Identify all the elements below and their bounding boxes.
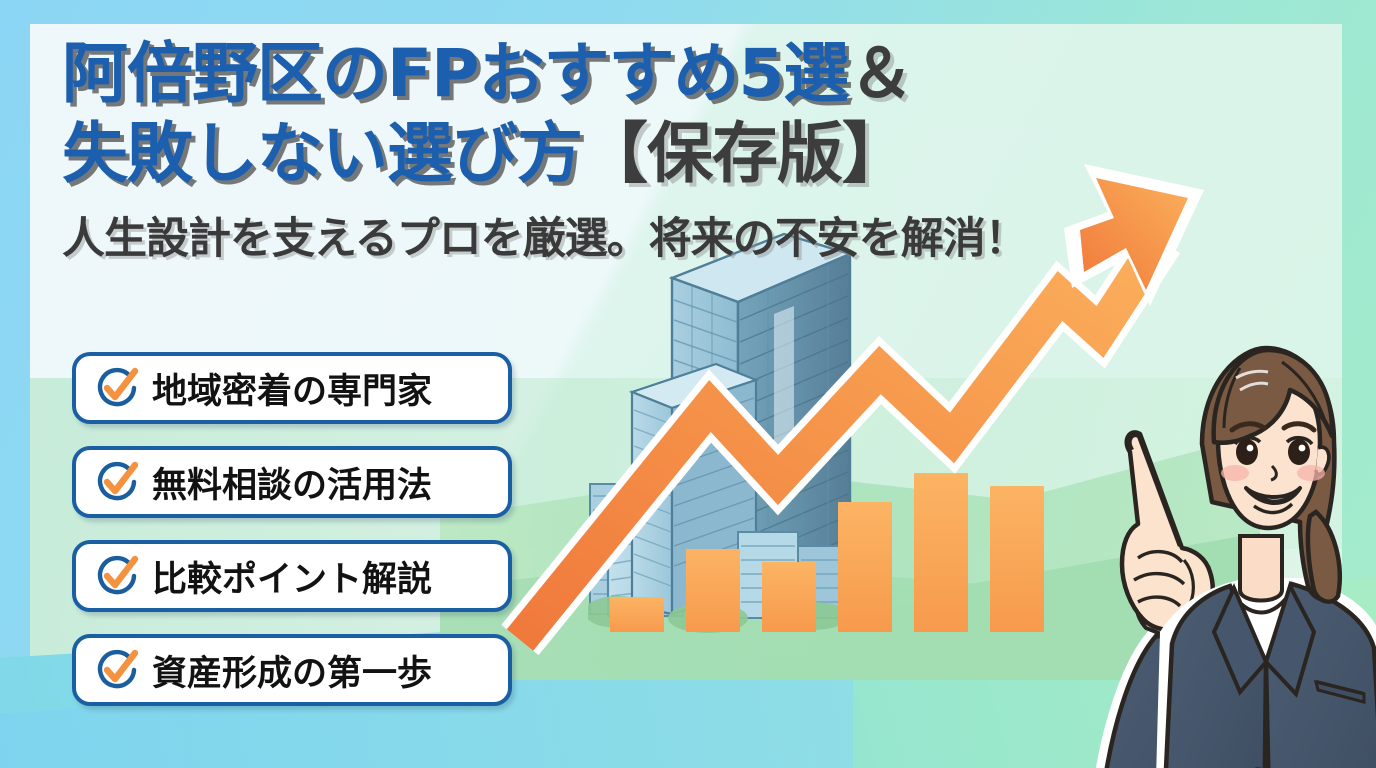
title-line-1-ampersand: ＆ <box>848 35 913 112</box>
title-line-1-main: 阿倍野区のFPおすすめ5選 <box>62 35 848 112</box>
bar-2 <box>686 549 740 632</box>
checklist-item-4[interactable]: 資産形成の第一歩 <box>72 634 512 706</box>
title-line-1: 阿倍野区のFPおすすめ5選＆ <box>62 34 1027 114</box>
bar-4 <box>838 502 892 632</box>
subtitle: 人生設計を支えるプロを厳選。将来の不安を解消！ <box>62 204 1027 266</box>
businesswoman-illustration <box>1034 332 1376 768</box>
checklist-item-1-label: 地域密着の専門家 <box>152 363 432 414</box>
checklist-item-3[interactable]: 比較ポイント解説 <box>72 540 512 612</box>
bar-chart <box>610 473 1044 632</box>
check-circle-icon <box>94 459 140 505</box>
title-line-2-tag: 【保存版】 <box>582 115 907 192</box>
checklist-item-1[interactable]: 地域密着の専門家 <box>72 352 512 424</box>
checklist-item-2-label: 無料相談の活用法 <box>152 457 432 508</box>
check-circle-icon <box>94 365 140 411</box>
title-line-2-main: 失敗しない選び方 <box>62 115 582 192</box>
check-circle-icon <box>94 553 140 599</box>
bar-3 <box>762 562 816 632</box>
checklist-item-4-label: 資産形成の第一歩 <box>152 645 432 696</box>
checklist: 地域密着の専門家 無料相談の活用法 比較ポイント解説 <box>72 352 512 728</box>
headline-block: 阿倍野区のFPおすすめ5選＆ 失敗しない選び方【保存版】 人生設計を支えるプロを… <box>62 34 1027 266</box>
banner-root: 阿倍野区のFPおすすめ5選＆ 失敗しない選び方【保存版】 人生設計を支えるプロを… <box>0 0 1376 768</box>
checklist-item-2[interactable]: 無料相談の活用法 <box>72 446 512 518</box>
bar-5 <box>914 473 968 632</box>
checklist-item-3-label: 比較ポイント解説 <box>152 551 432 602</box>
check-circle-icon <box>94 647 140 693</box>
title-line-2: 失敗しない選び方【保存版】 <box>62 114 1027 194</box>
bar-1 <box>610 597 664 632</box>
